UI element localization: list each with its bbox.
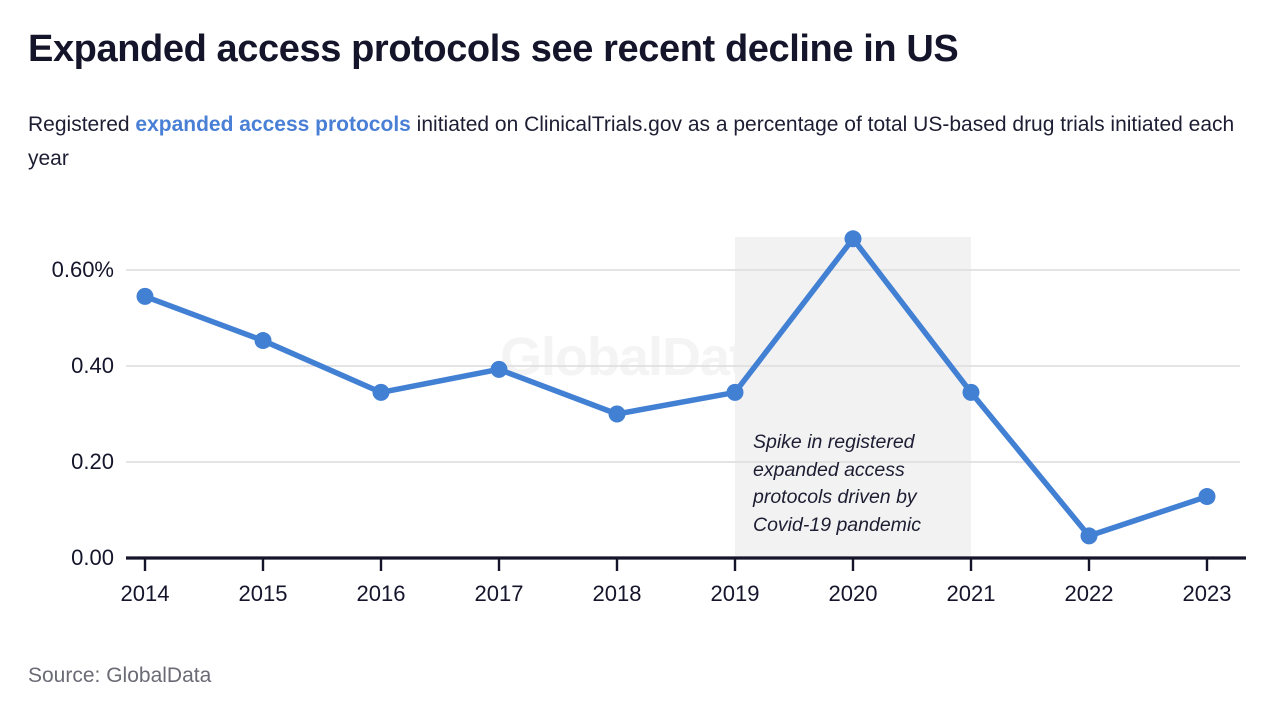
data-point-marker[interactable] [137, 288, 154, 305]
x-axis-tick-label: 2018 [557, 581, 677, 607]
x-axis-tick-label: 2015 [203, 581, 323, 607]
x-axis-tick-label: 2014 [85, 581, 205, 607]
x-axis-tick-label: 2017 [439, 581, 559, 607]
data-point-marker[interactable] [491, 361, 508, 378]
y-axis-tick-label: 0.20 [14, 449, 114, 475]
data-point-marker[interactable] [373, 384, 390, 401]
data-point-marker[interactable] [255, 332, 272, 349]
y-axis-tick-label: 0.60% [14, 257, 114, 283]
chart-annotation: Spike in registered expanded access prot… [753, 429, 968, 540]
y-axis-tick-label: 0.40 [14, 353, 114, 379]
x-axis-tick-label: 2022 [1029, 581, 1149, 607]
x-axis-tick-label: 2019 [675, 581, 795, 607]
data-point-marker[interactable] [1199, 488, 1216, 505]
x-axis-tick-label: 2020 [793, 581, 913, 607]
gridlines [126, 270, 1240, 462]
source-note: Source: GlobalData [28, 664, 211, 688]
data-point-markers [137, 230, 1216, 544]
data-point-marker[interactable] [727, 384, 744, 401]
x-axis-tick-label: 2023 [1147, 581, 1267, 607]
x-axis-tick-label: 2016 [321, 581, 441, 607]
data-point-marker[interactable] [1081, 527, 1098, 544]
data-point-marker[interactable] [845, 230, 862, 247]
chart-page: Expanded access protocols see recent dec… [0, 0, 1268, 712]
data-point-marker[interactable] [963, 384, 980, 401]
y-axis-tick-label: 0.00 [14, 545, 114, 571]
x-axis [126, 558, 1246, 571]
data-point-marker[interactable] [609, 406, 626, 423]
x-axis-tick-label: 2021 [911, 581, 1031, 607]
series-line-expanded-access [145, 239, 1207, 536]
